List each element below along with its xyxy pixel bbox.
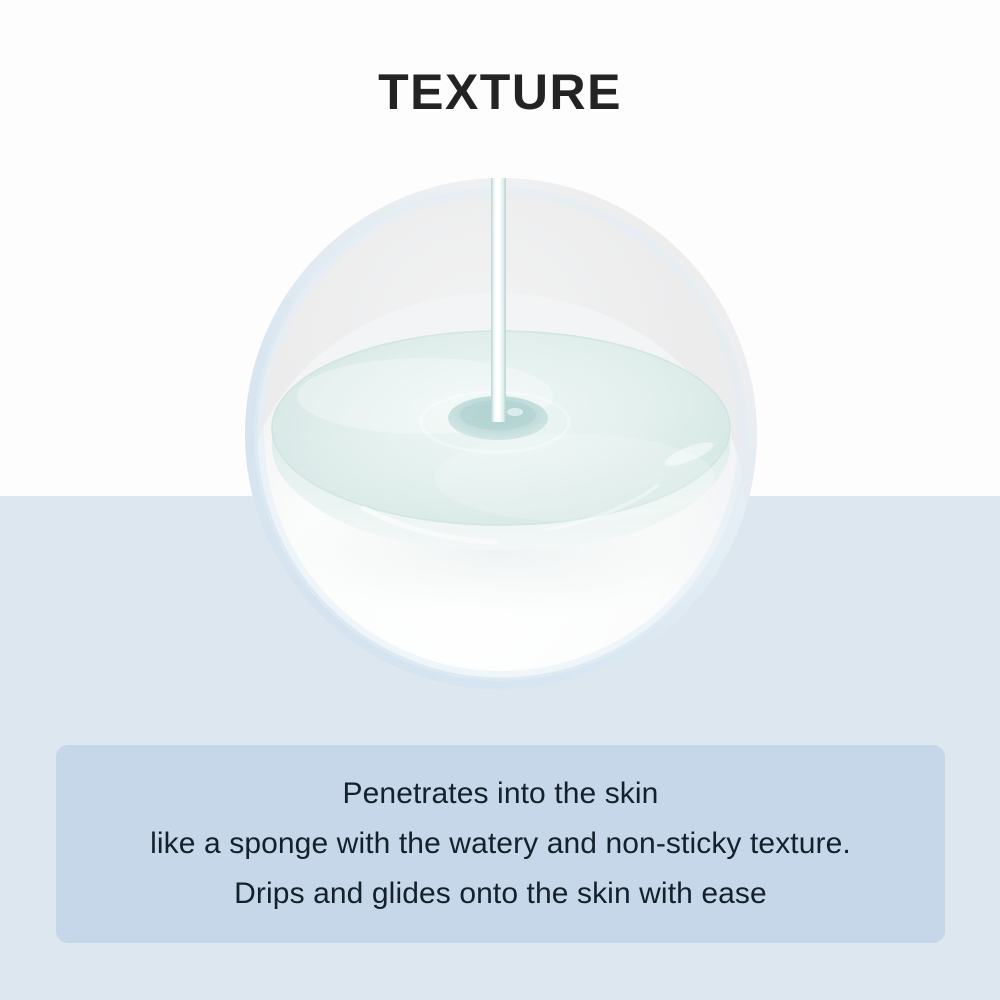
page-title: TEXTURE [0,62,1000,122]
caption-line-2: like a sponge with the watery and non-st… [150,819,851,869]
texture-product-card: TEXTURE [0,0,1000,1000]
caption-panel: Penetrates into the skin like a sponge w… [56,745,945,943]
pouring-stream [491,178,506,422]
caption-line-3: Drips and glides onto the skin with ease [234,869,767,919]
serum-droplet-pouring-illustration [245,178,757,690]
product-visual [245,178,757,690]
caption-line-1: Penetrates into the skin [343,769,659,819]
